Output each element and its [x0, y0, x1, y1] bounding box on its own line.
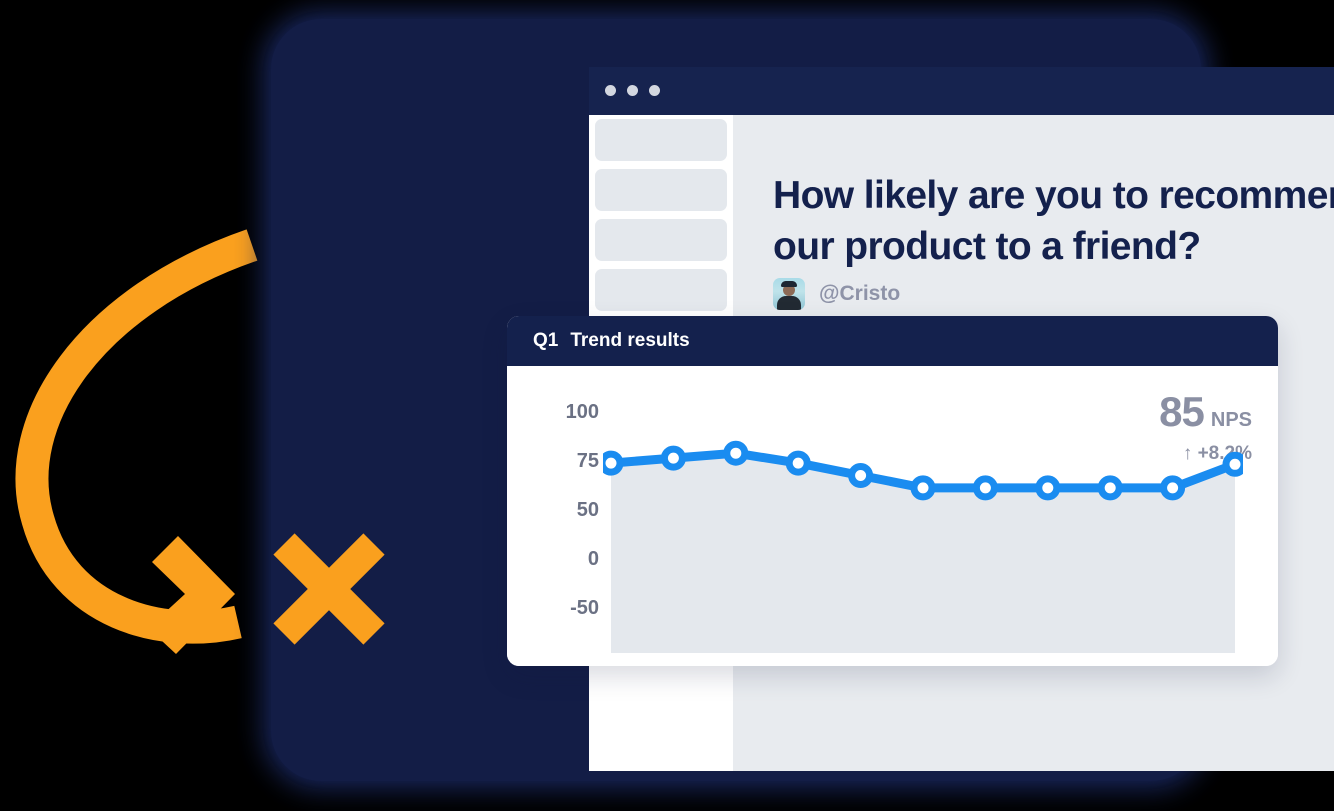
- data-point-4[interactable]: [789, 454, 807, 472]
- trend-results-card: Q1 Trend results 85 NPS ↑ +8.2% 100 75 5…: [507, 316, 1278, 666]
- window-controls: [605, 85, 660, 96]
- sidebar-item-4[interactable]: [595, 269, 727, 311]
- author-handle: @Cristo: [819, 282, 900, 306]
- sidebar-item-2[interactable]: [595, 169, 727, 211]
- card-title: Trend results: [570, 330, 689, 352]
- avatar-cap: [781, 281, 797, 287]
- data-point-6[interactable]: [914, 479, 932, 497]
- avatar: [773, 278, 805, 310]
- data-point-1[interactable]: [603, 454, 620, 472]
- data-point-10[interactable]: [1164, 479, 1182, 497]
- data-point-11[interactable]: [1226, 455, 1243, 473]
- close-dot-icon[interactable]: [605, 85, 616, 96]
- sidebar-item-1[interactable]: [595, 119, 727, 161]
- y-tick-75: 75: [525, 450, 599, 473]
- page-title: How likely are you to recommend our prod…: [773, 170, 1334, 272]
- author-row: @Cristo: [773, 278, 900, 310]
- y-tick--50: -50: [525, 597, 599, 620]
- y-tick-0: 0: [525, 548, 599, 571]
- data-point-8[interactable]: [1039, 479, 1057, 497]
- data-point-5[interactable]: [852, 467, 870, 485]
- card-header: Q1 Trend results: [507, 316, 1278, 366]
- data-point-3[interactable]: [727, 444, 745, 462]
- sidebar-item-3[interactable]: [595, 219, 727, 261]
- plot-area: [603, 366, 1243, 666]
- y-axis: 100 75 50 0 -50: [525, 366, 599, 666]
- avatar-body: [777, 296, 801, 310]
- card-question-number: Q1: [533, 330, 558, 352]
- y-tick-100: 100: [525, 401, 599, 424]
- data-point-9[interactable]: [1101, 479, 1119, 497]
- screenshot-stage: How likely are you to recommend our prod…: [0, 0, 1334, 811]
- data-point-7[interactable]: [976, 479, 994, 497]
- window-titlebar: [589, 67, 1334, 115]
- y-tick-50: 50: [525, 499, 599, 522]
- curved-arrow-icon: [32, 245, 252, 627]
- line-chart: [603, 366, 1243, 666]
- data-point-2[interactable]: [664, 449, 682, 467]
- maximize-dot-icon[interactable]: [649, 85, 660, 96]
- card-body: 85 NPS ↑ +8.2% 100 75 50 0 -50: [507, 366, 1278, 666]
- arrow-head-icon: [148, 536, 235, 654]
- minimize-dot-icon[interactable]: [627, 85, 638, 96]
